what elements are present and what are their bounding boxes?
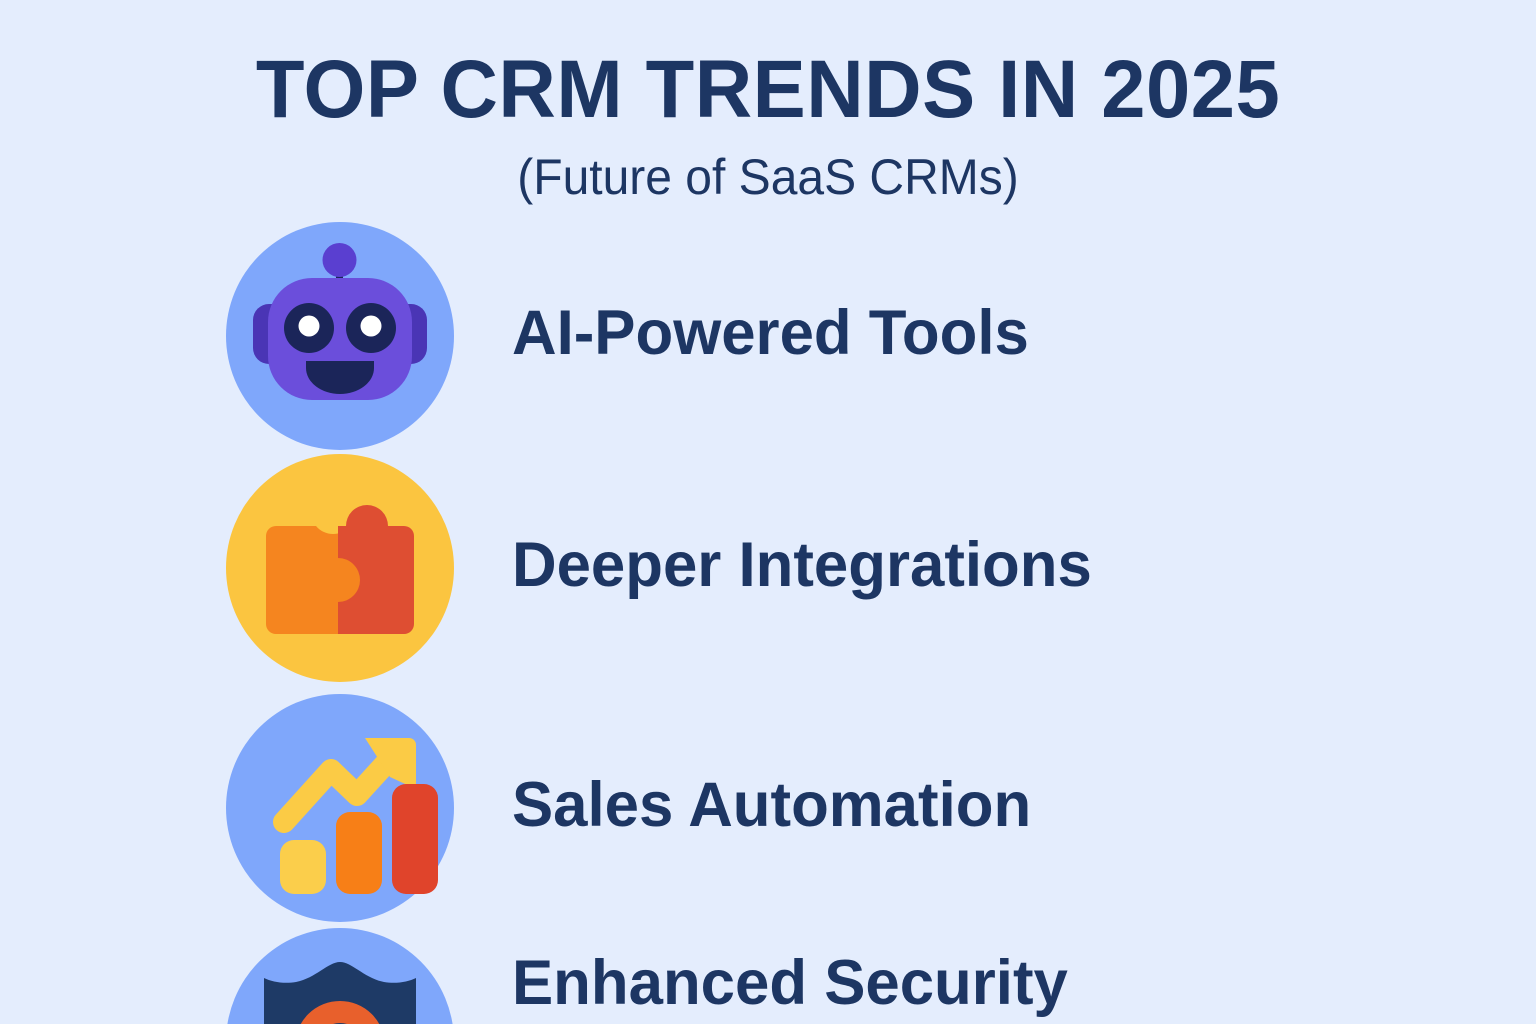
trend-item-sales-automation: Sales Automation: [0, 694, 1536, 926]
shield-lock-icon: [226, 928, 454, 1024]
trend-label: Sales Automation: [512, 766, 1031, 844]
growth-chart-icon: [226, 694, 454, 922]
puzzle-icon: [226, 454, 454, 682]
infographic-canvas: TOP CRM TRENDS IN 2025 (Future of SaaS C…: [0, 0, 1536, 1024]
trend-label: Enhanced Security: [512, 944, 1068, 1022]
trend-item-ai-powered-tools: AI-Powered Tools: [0, 222, 1536, 454]
page-subtitle: (Future of SaaS CRMs): [31, 148, 1506, 206]
robot-icon: [226, 222, 454, 450]
trend-item-enhanced-security: Enhanced Security: [0, 928, 1536, 1024]
page-title: TOP CRM TRENDS IN 2025: [23, 46, 1513, 134]
trend-item-deeper-integrations: Deeper Integrations: [0, 454, 1536, 686]
trend-label: Deeper Integrations: [512, 526, 1092, 604]
trend-label: AI-Powered Tools: [512, 294, 1029, 372]
